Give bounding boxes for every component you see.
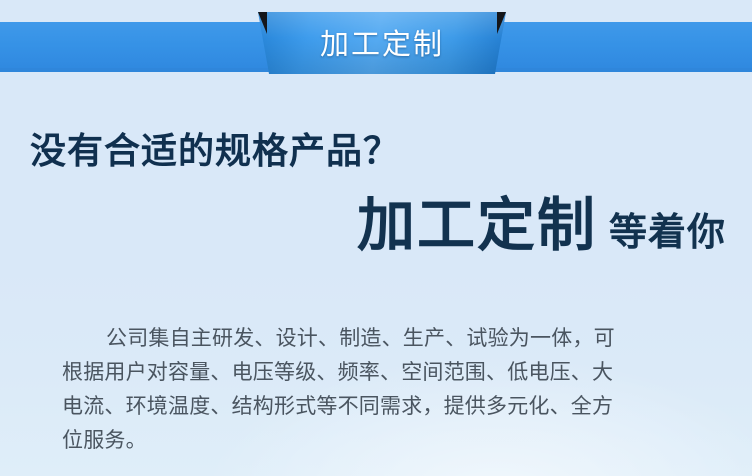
description-line: 位服务。 <box>62 424 698 458</box>
description-line: 根据用户对容量、电压等级、频率、空间范围、低电压、大 <box>62 356 698 390</box>
description-line: 电流、环境温度、结构形式等不同需求，提供多元化、全方 <box>62 390 698 424</box>
ribbon-banner: 加工定制 <box>0 0 752 90</box>
description-paragraph: 公司集自主研发、设计、制造、生产、试验为一体，可 根据用户对容量、电压等级、频率… <box>62 322 698 458</box>
promo-page: 加工定制 没有合适的规格产品？ 加工定制 等着你 公司集自主研发、设计、制造、生… <box>0 0 752 476</box>
headline-group: 加工定制 等着你 <box>0 196 726 257</box>
section-question-heading: 没有合适的规格产品？ <box>30 122 400 174</box>
headline-primary: 加工定制 <box>357 196 597 257</box>
description-line: 公司集自主研发、设计、制造、生产、试验为一体，可 <box>62 322 698 356</box>
ribbon-title: 加工定制 <box>252 12 512 74</box>
headline-secondary: 等着你 <box>609 214 726 254</box>
